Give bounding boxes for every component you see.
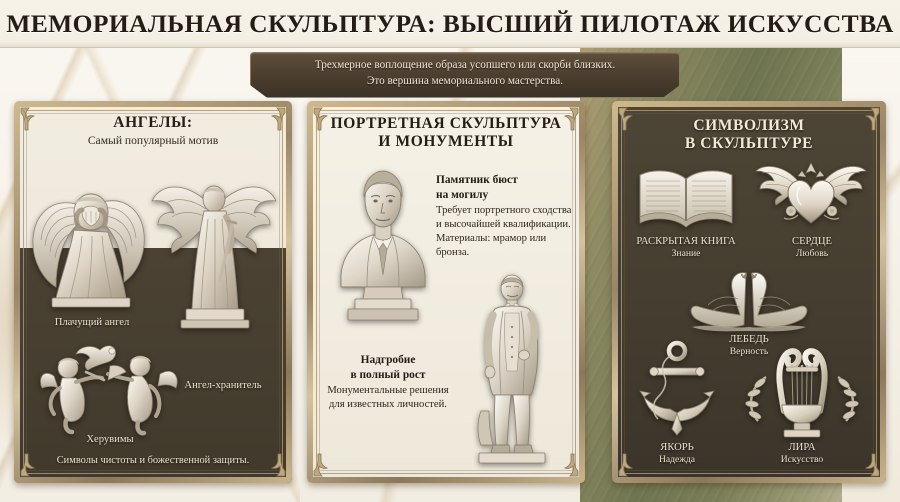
symbol-meaning-heart: Любовь [754,248,870,260]
winged-heart-icon [754,157,868,233]
panel-symbolism-heading: СИМВОЛИЗМ В СКУЛЬПТУРЕ [612,117,886,154]
symbol-meaning-book: Знание [620,248,752,260]
caption-weeping-angel-text: Плачущий ангел [34,316,150,329]
panel-symbolism[interactable]: СИМВОЛИЗМ В СКУЛЬПТУРЕ [612,101,886,483]
panel-symbolism-title: СИМВОЛИЗМ [612,117,886,135]
symbol-caption-anchor: ЯКОРЬ Надежда [624,441,730,466]
guardian-angel-statue [150,159,278,339]
block-fullheight-title-2: в полный рост [319,368,457,383]
block-bust-title-1: Памятник бюст [436,173,572,188]
symbol-name-lyre: ЛИРА [742,441,862,454]
subtitle-line-1: Трехмерное воплощение образа усопшего ил… [265,58,665,74]
open-book-icon [634,163,738,231]
panel-angels-subtitle: Самый популярный мотив [14,133,292,148]
symbol-name-anchor: ЯКОРЬ [624,441,730,454]
caption-cherubs: Херувимы [50,433,170,446]
panel-angels-footnote: Символы чистоты и божественной защиты. [14,455,292,466]
block-fullheight-text: Надгробие в полный рост Монументальные р… [319,353,457,412]
panel-symbolism-title-2: В СКУЛЬПТУРЕ [612,135,886,153]
block-fullheight-body: Монументальные решения для известных лич… [319,384,457,412]
poster-header: МЕМОРИАЛЬНАЯ СКУЛЬПТУРА: ВЫСШИЙ ПИЛОТАЖ … [0,0,900,48]
symbol-caption-heart: СЕРДЦЕ Любовь [754,235,870,260]
symbol-meaning-lyre: Искусство [742,454,862,466]
panel-angels[interactable]: АНГЕЛЫ: Самый популярный мотив [14,101,292,483]
symbol-caption-lyre: ЛИРА Искусство [742,441,862,466]
corner-ornament-bottom-left-icon [312,452,338,478]
lyre-icon [736,341,868,441]
caption-cherubs-text: Херувимы [50,433,170,446]
block-bust-title-2: на могилу [436,188,572,203]
panel-portrait-heading: ПОРТРЕТНАЯ СКУЛЬПТУРА И МОНУМЕНТЫ [307,115,585,152]
cherubs-statue [36,336,186,436]
panel-angels-heading: АНГЕЛЫ: Самый популярный мотив [14,114,292,148]
poster-canvas: МЕМОРИАЛЬНАЯ СКУЛЬПТУРА: ВЫСШИЙ ПИЛОТАЖ … [0,0,900,502]
panel-portrait-sculpture[interactable]: ПОРТРЕТНАЯ СКУЛЬПТУРА И МОНУМЕНТЫ [307,101,585,483]
weeping-angel-statue [30,156,150,316]
symbol-caption-book: РАСКРЫТАЯ КНИГА Знание [620,235,752,260]
anchor-icon [634,341,720,439]
symbol-name-book: РАСКРЫТАЯ КНИГА [620,235,752,248]
symbol-name-heart: СЕРДЦЕ [754,235,870,248]
panel-angels-title: АНГЕЛЫ: [14,114,292,132]
block-bust-body: Требует портретного сходства и высочайше… [436,204,572,260]
panel-portrait-title-2: И МОНУМЕНТЫ [307,133,585,151]
bust-sculpture [325,163,441,323]
subtitle-line-2: Это вершина мемориального мастерства. [265,74,665,90]
panel-portrait-title: ПОРТРЕТНАЯ СКУЛЬПТУРА [307,115,585,133]
caption-weeping-angel: Плачущий ангел [34,316,150,329]
swans-pair-icon [686,263,812,335]
block-bust-text: Памятник бюст на могилу Требует портретн… [436,173,572,261]
full-height-statue [459,271,565,467]
symbol-meaning-anchor: Надежда [624,454,730,466]
subtitle-ribbon: Трехмерное воплощение образа усопшего ил… [250,52,680,98]
block-fullheight-title-1: Надгробие [319,353,457,368]
page-title: МЕМОРИАЛЬНАЯ СКУЛЬПТУРА: ВЫСШИЙ ПИЛОТАЖ … [6,9,893,39]
